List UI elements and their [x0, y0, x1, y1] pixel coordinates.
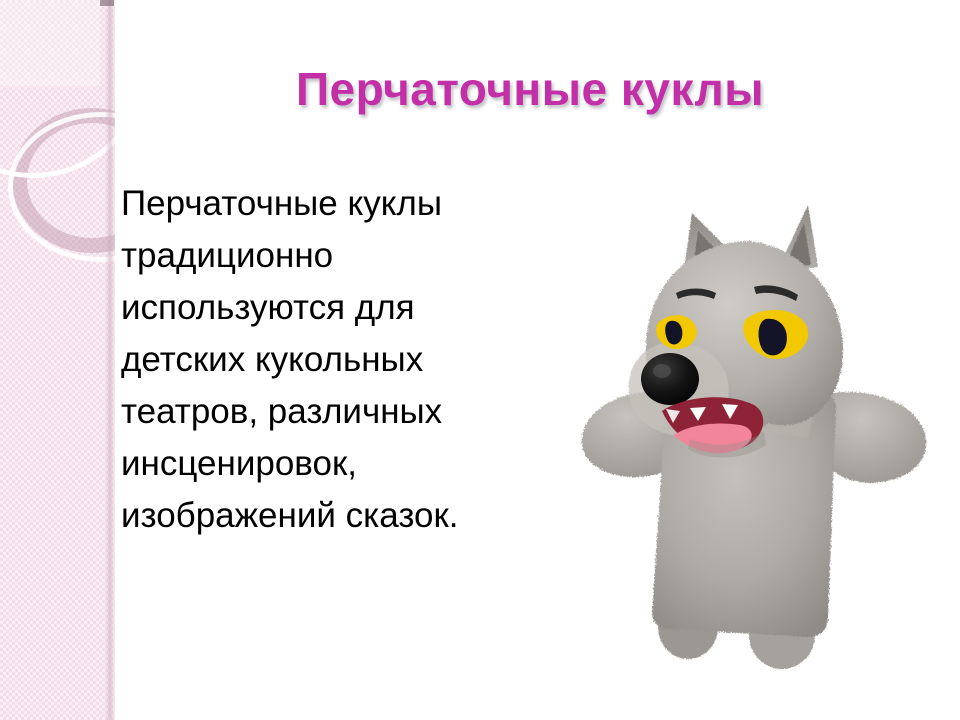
- decorative-sidebar: [0, 0, 115, 720]
- slide-canvas: Перчаточные куклы Перчаточные куклы трад…: [0, 0, 960, 720]
- sidebar-top-notch: [100, 0, 114, 6]
- slide-title: Перчаточные куклы: [160, 62, 900, 116]
- gray-wolf-hand-puppet-image: [570, 195, 960, 685]
- slide-body-text: Перчаточные куклы традиционно используют…: [121, 178, 541, 542]
- sidebar-edge-shadow: [105, 0, 115, 720]
- puppet-nose: [641, 353, 699, 405]
